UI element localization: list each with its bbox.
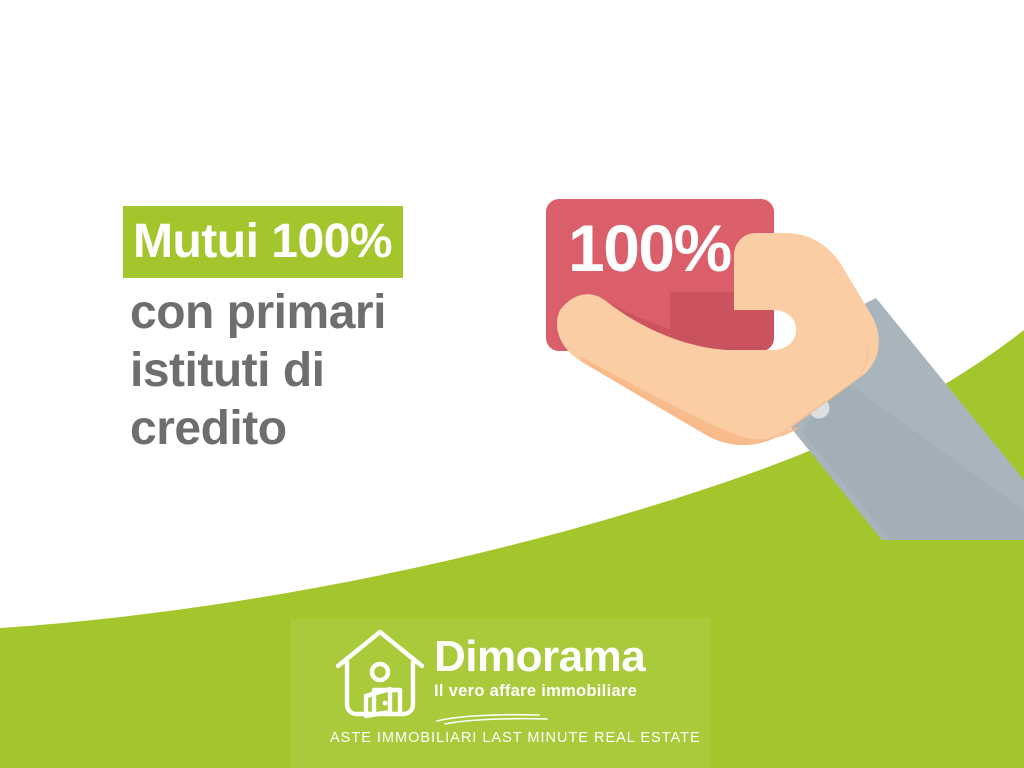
dimorama-logo[interactable]: Dimorama Il vero affare immobiliare ASTE… (330, 624, 700, 752)
logo-wordmark: Dimorama Il vero affare immobiliare (434, 634, 700, 701)
headline-block: Mutui 100% con primari istituti di credi… (123, 206, 553, 458)
headline-highlight: Mutui 100% (123, 206, 403, 278)
headline-line-2: istituti di (130, 342, 553, 400)
promo-banner: Mutui 100% con primari istituti di credi… (0, 0, 1024, 768)
headline-subtext: con primari istituti di credito (130, 284, 553, 458)
logo-subline: ASTE IMMOBILIARI LAST MINUTE REAL ESTATE (330, 729, 700, 747)
badge-percent-label: 100% (568, 215, 731, 281)
headline-line-1: con primari (130, 284, 553, 342)
logo-flourish-icon (435, 713, 555, 725)
headline-line-3: credito (130, 400, 553, 458)
house-icon (330, 624, 430, 724)
logo-tagline: Il vero affare immobiliare (434, 681, 700, 701)
logo-name: Dimorama (434, 634, 700, 680)
